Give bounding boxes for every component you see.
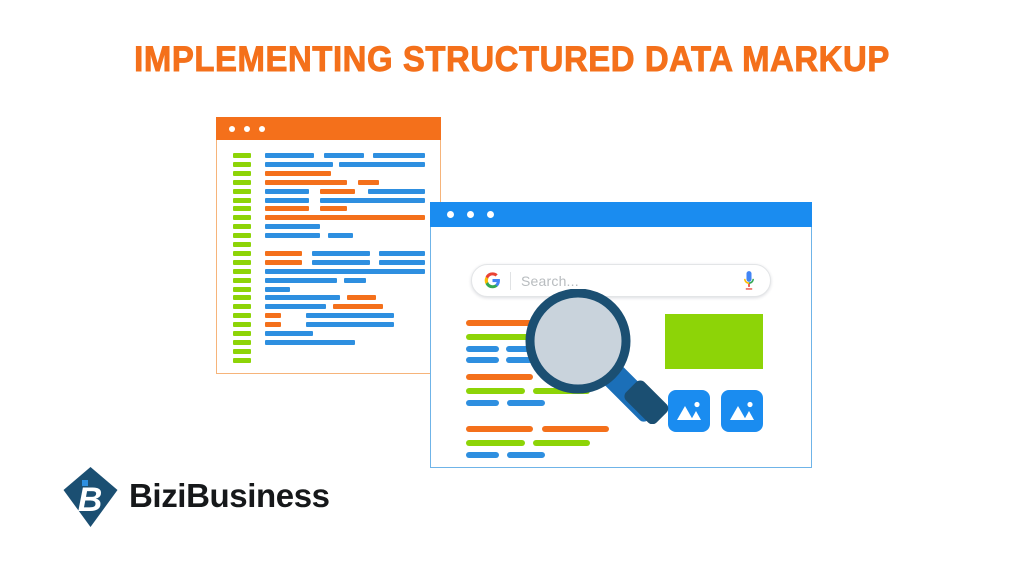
code-line-number: [233, 260, 251, 265]
code-line-number: [233, 180, 251, 185]
search-input[interactable]: Search...: [521, 273, 742, 289]
browser-window-titlebar: [430, 202, 812, 227]
code-line-segment: [265, 198, 309, 203]
code-line-number: [233, 198, 251, 203]
code-line-segment: [320, 206, 347, 211]
code-line-segment: [265, 313, 281, 318]
code-line-number: [233, 251, 251, 256]
window-dot-close-icon[interactable]: [229, 126, 235, 132]
search-result-line: [466, 426, 533, 432]
code-line-segment: [347, 295, 376, 300]
code-line-segment: [265, 251, 302, 256]
code-line-segment: [320, 198, 425, 203]
code-line-segment: [265, 278, 337, 283]
code-line-segment: [265, 215, 425, 220]
code-line-number: [233, 331, 251, 336]
microphone-icon[interactable]: [742, 271, 756, 290]
code-line-segment: [358, 180, 379, 185]
brand-name: BiziBusiness: [129, 474, 330, 518]
code-line-number: [233, 189, 251, 194]
code-line-segment: [344, 278, 366, 283]
code-window-titlebar: [216, 117, 441, 140]
image-thumbnail-2[interactable]: [721, 390, 763, 432]
code-line-segment: [312, 260, 370, 265]
code-line-number: [233, 278, 251, 283]
code-line-segment: [265, 260, 302, 265]
code-line-segment: [379, 260, 425, 265]
code-line-segment: [312, 251, 370, 256]
code-line-number: [233, 358, 251, 363]
code-line-number: [233, 206, 251, 211]
code-line-number: [233, 215, 251, 220]
code-line-segment: [333, 304, 383, 309]
code-line-segment: [265, 304, 326, 309]
code-line-segment: [265, 340, 355, 345]
code-line-number: [233, 269, 251, 274]
code-line-number: [233, 322, 251, 327]
code-line-segment: [265, 189, 309, 194]
code-line-segment: [320, 189, 355, 194]
search-result-line: [466, 346, 499, 352]
code-line-number: [233, 304, 251, 309]
browser-dot-close-icon[interactable]: [447, 211, 454, 218]
search-result-line: [533, 440, 590, 446]
code-line-segment: [324, 153, 364, 158]
google-g-icon: [484, 272, 501, 289]
code-line-number: [233, 287, 251, 292]
code-line-segment: [339, 162, 425, 167]
code-line-segment: [265, 180, 347, 185]
code-line-segment: [373, 153, 425, 158]
search-result-line: [466, 440, 525, 446]
code-line-segment: [265, 322, 281, 327]
code-line-number: [233, 340, 251, 345]
browser-dot-maximize-icon[interactable]: [487, 211, 494, 218]
code-line-segment: [265, 233, 320, 238]
brand-mark-icon: B: [62, 466, 119, 528]
search-result-line: [466, 388, 525, 394]
search-result-line: [466, 452, 499, 458]
code-line-segment: [265, 331, 313, 336]
code-line-number: [233, 349, 251, 354]
search-result-line: [507, 452, 545, 458]
code-line-segment: [328, 233, 353, 238]
code-line-number: [233, 242, 251, 247]
code-content-area: [216, 140, 441, 374]
code-line-segment: [265, 295, 340, 300]
browser-dot-minimize-icon[interactable]: [467, 211, 474, 218]
magnifying-glass-icon: [521, 289, 706, 424]
code-line-segment: [306, 313, 394, 318]
search-result-line: [466, 400, 499, 406]
code-line-segment: [265, 224, 320, 229]
svg-text:B: B: [78, 481, 103, 519]
window-dot-maximize-icon[interactable]: [259, 126, 265, 132]
code-line-segment: [265, 153, 314, 158]
code-line-number: [233, 171, 251, 176]
code-line-segment: [265, 287, 290, 292]
page-title: IMPLEMENTING STRUCTURED DATA MARKUP: [31, 40, 994, 80]
code-line-segment: [265, 206, 309, 211]
code-line-number: [233, 162, 251, 167]
slide-canvas: IMPLEMENTING STRUCTURED DATA MARKUP Sear…: [0, 0, 1024, 576]
search-result-line: [542, 426, 609, 432]
code-line-number: [233, 224, 251, 229]
code-line-number: [233, 313, 251, 318]
search-result-line: [466, 357, 499, 363]
code-line-segment: [379, 251, 425, 256]
brand-logo: B BiziBusiness: [62, 466, 362, 528]
code-line-segment: [265, 269, 425, 274]
search-divider: [510, 272, 511, 290]
window-dot-minimize-icon[interactable]: [244, 126, 250, 132]
code-line-number: [233, 153, 251, 158]
code-line-segment: [265, 162, 333, 167]
code-line-segment: [265, 171, 331, 176]
code-line-number: [233, 295, 251, 300]
code-line-number: [233, 233, 251, 238]
code-line-segment: [368, 189, 425, 194]
code-line-segment: [306, 322, 394, 327]
